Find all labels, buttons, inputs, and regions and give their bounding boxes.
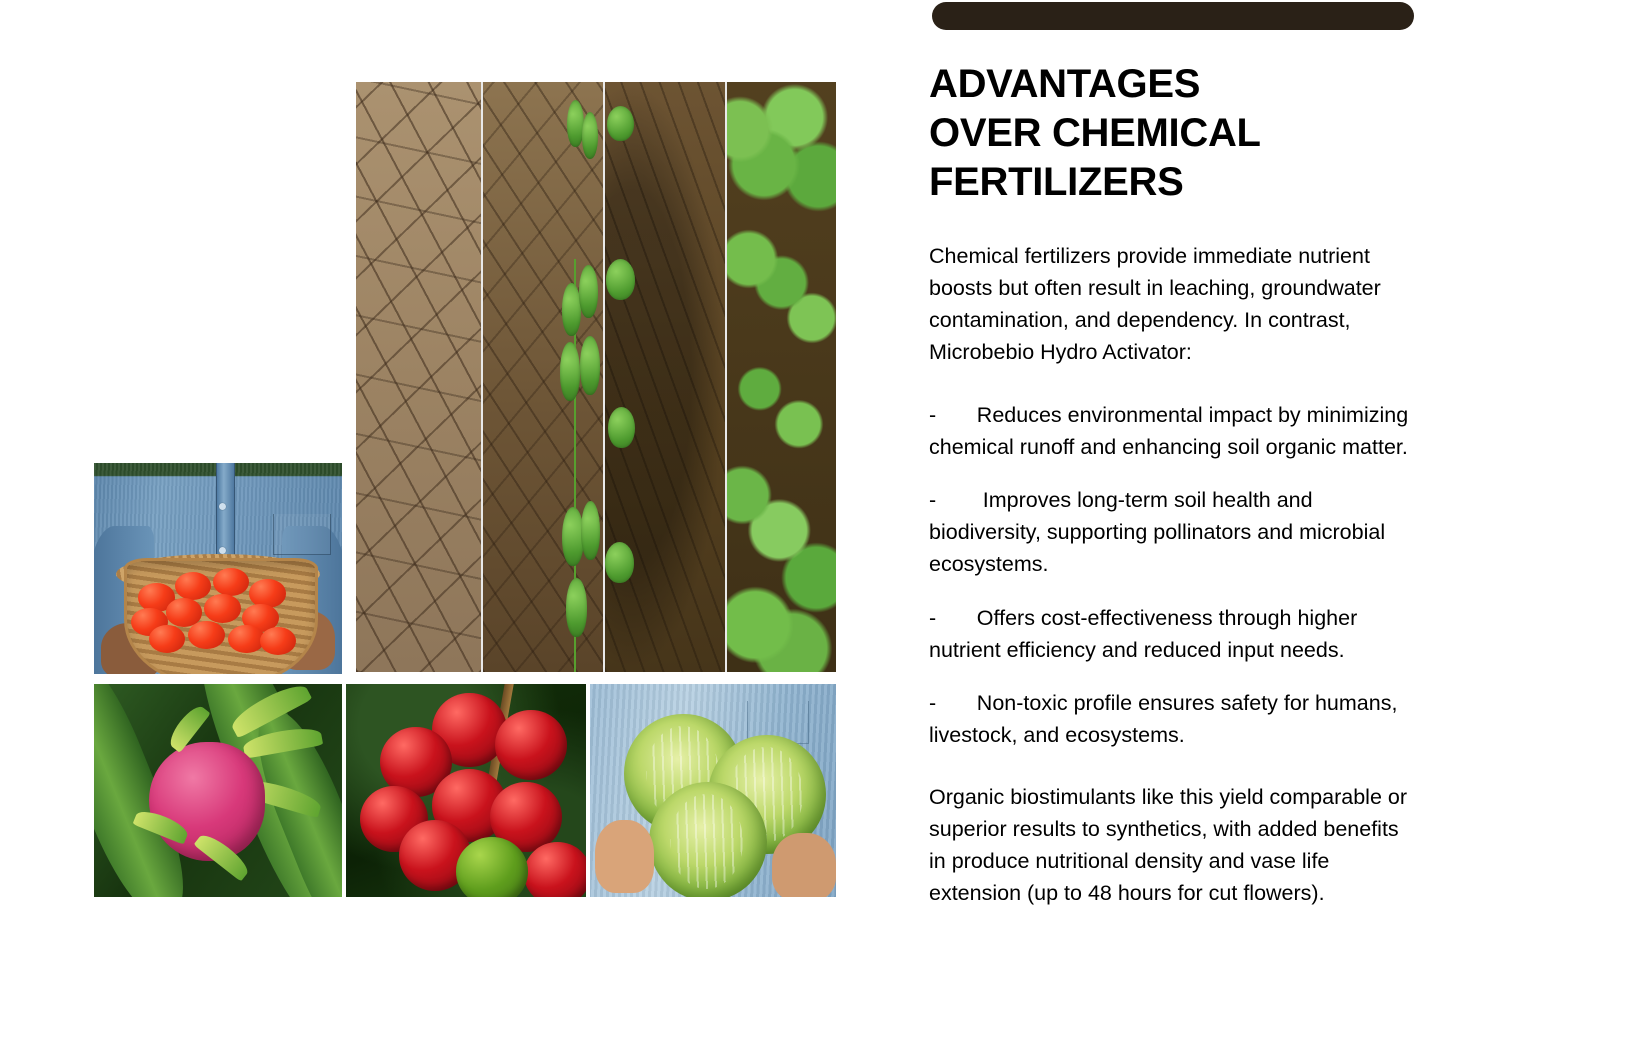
panel-seedlings — [483, 82, 605, 672]
benefits-list: - Reduces environmental impact by minimi… — [929, 399, 1410, 752]
list-item: - Offers cost-effectiveness through high… — [929, 602, 1410, 666]
list-item: - Improves long-term soil health and bio… — [929, 484, 1410, 580]
intro-paragraph: Chemical fertilizers provide immediate n… — [929, 240, 1410, 368]
panel-planted-rows — [605, 82, 727, 672]
list-item: - Reduces environmental impact by minimi… — [929, 399, 1410, 463]
coffee-cherries-photo — [346, 684, 586, 897]
tomato-basket-photo — [94, 463, 342, 674]
panel-cracked-soil — [356, 82, 483, 672]
tomatoes-group — [131, 562, 305, 657]
closing-paragraph: Organic biostimulants like this yield co… — [929, 781, 1410, 909]
page-title: ADVANTAGES OVER CHEMICAL FERTILIZERS — [929, 60, 1410, 206]
header-accent-bar — [932, 2, 1414, 30]
panel-lush-crop — [727, 82, 836, 672]
soil-progression-strip — [356, 82, 836, 672]
list-item: - Non-toxic profile ensures safety for h… — [929, 687, 1410, 751]
slide-page: ADVANTAGES OVER CHEMICAL FERTILIZERS Che… — [0, 0, 1650, 1050]
cabbage-harvest-photo — [590, 684, 836, 897]
content-text-column: ADVANTAGES OVER CHEMICAL FERTILIZERS Che… — [929, 60, 1410, 960]
dragon-fruit-photo — [94, 684, 342, 897]
